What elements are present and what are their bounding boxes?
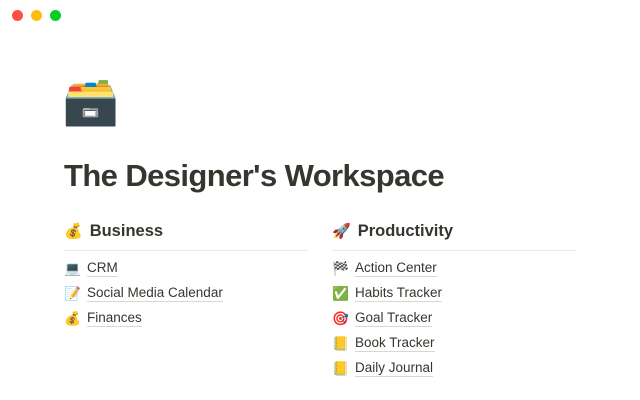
list-item[interactable]: ✅ Habits Tracker [332,285,576,303]
window-close-button[interactable] [12,10,23,21]
list-item[interactable]: 💻 CRM [64,260,308,278]
column-heading-business: 💰 Business [64,222,308,250]
window-minimize-button[interactable] [31,10,42,21]
page-link-action-center[interactable]: Action Center [355,260,437,277]
page-link-goal-tracker[interactable]: Goal Tracker [355,310,432,327]
list-item[interactable]: 📝 Social Media Calendar [64,285,308,303]
money-bag-icon: 💰 [64,312,80,326]
page-link-finances[interactable]: Finances [87,310,142,327]
traffic-light-controls [12,10,61,21]
page-link-daily-journal[interactable]: Daily Journal [355,360,433,377]
page-title: The Designer's Workspace [64,158,444,194]
rocket-icon: 🚀 [332,224,351,239]
list-item[interactable]: 🎯 Goal Tracker [332,310,576,328]
column-heading-text: Business [90,222,163,242]
money-bag-icon: 💰 [64,224,83,239]
column-divider [64,250,308,251]
window-maximize-button[interactable] [50,10,61,21]
column-business: 💰 Business 💻 CRM 📝 Social Media Calendar… [64,222,308,385]
page-link-book-tracker[interactable]: Book Tracker [355,335,435,352]
list-item[interactable]: 📒 Book Tracker [332,335,576,353]
check-mark-button-icon: ✅ [332,287,348,301]
column-divider [332,250,576,251]
list-item[interactable]: 📒 Daily Journal [332,360,576,378]
column-heading-text: Productivity [358,222,453,242]
page-link-crm[interactable]: CRM [87,260,118,277]
column-productivity: 🚀 Productivity 🏁 Action Center ✅ Habits … [332,222,576,385]
column-heading-productivity: 🚀 Productivity [332,222,576,250]
column-layout: 💰 Business 💻 CRM 📝 Social Media Calendar… [64,222,576,385]
list-item[interactable]: 💰 Finances [64,310,308,328]
link-list-business: 💻 CRM 📝 Social Media Calendar 💰 Finances [64,260,308,328]
laptop-icon: 💻 [64,262,80,276]
page-content: 🗃️ The Designer's Workspace 💰 Business 💻… [0,30,640,400]
window-titlebar [0,0,640,30]
ledger-icon: 📒 [332,337,348,351]
page-link-social-media-calendar[interactable]: Social Media Calendar [87,285,223,302]
list-item[interactable]: 🏁 Action Center [332,260,576,278]
link-list-productivity: 🏁 Action Center ✅ Habits Tracker 🎯 Goal … [332,260,576,378]
direct-hit-icon: 🎯 [332,312,348,326]
chequered-flag-icon: 🏁 [332,262,348,276]
ledger-icon: 📒 [332,362,348,376]
page-link-habits-tracker[interactable]: Habits Tracker [355,285,442,302]
memo-icon: 📝 [64,287,80,301]
card-file-box-icon[interactable]: 🗃️ [62,78,119,124]
